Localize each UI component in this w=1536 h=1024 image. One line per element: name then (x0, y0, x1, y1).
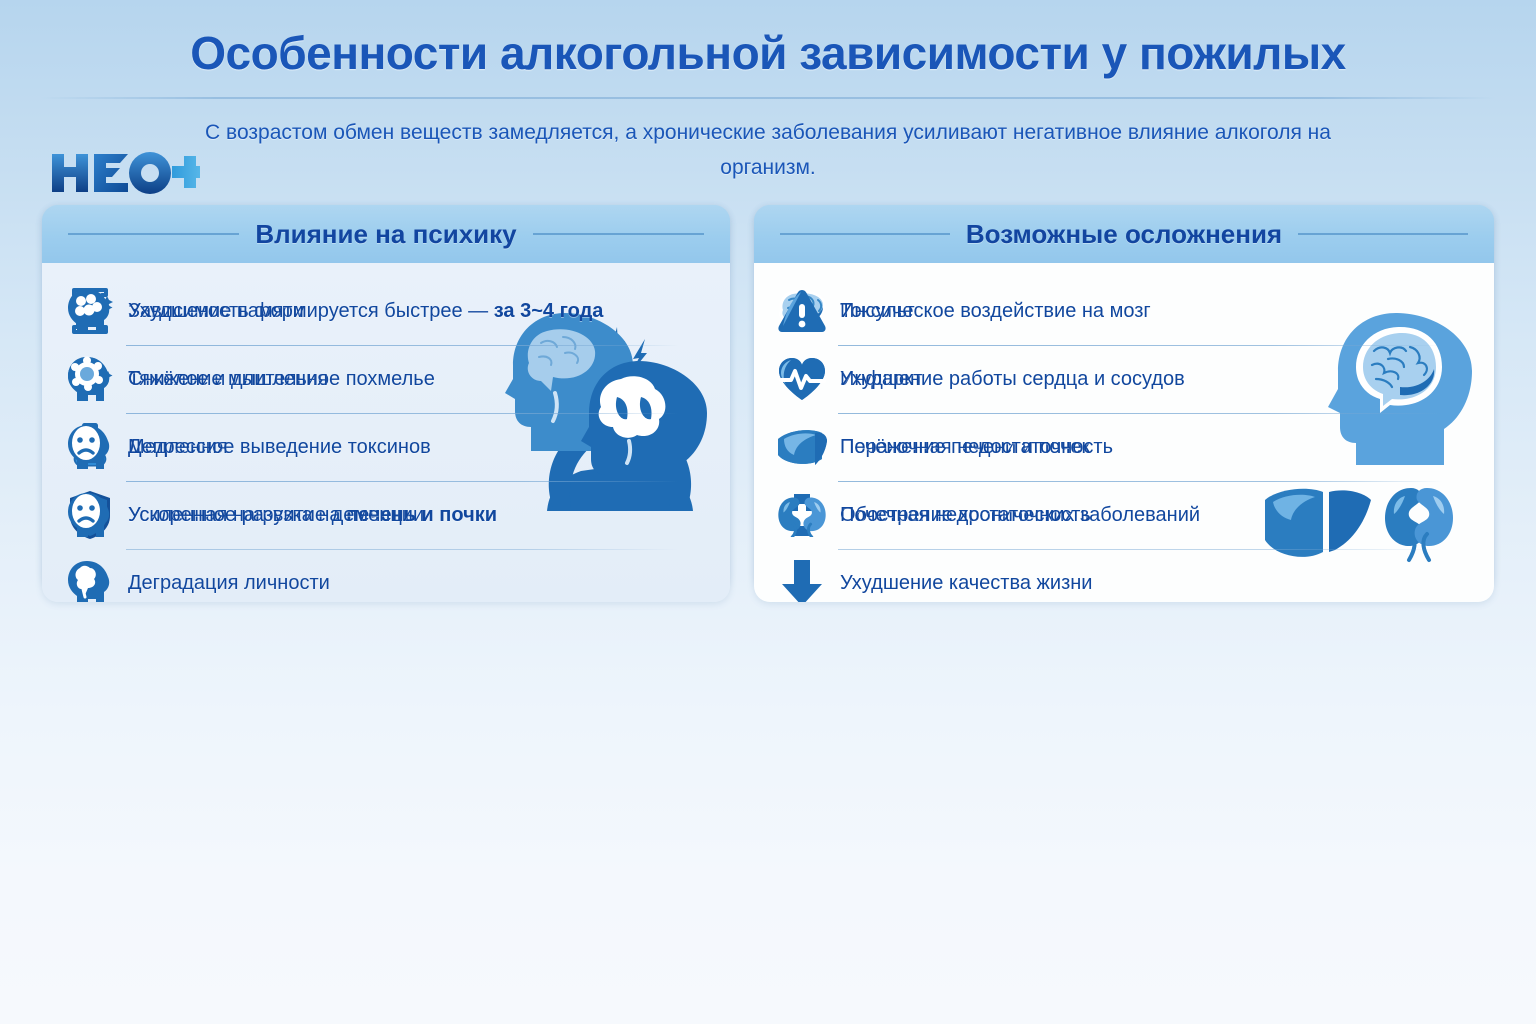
head-degradation-icon (64, 557, 116, 602)
header-rule-left (68, 233, 239, 235)
list-item: Почечная недостаточность (776, 481, 1472, 549)
title-divider (40, 97, 1496, 99)
list-item-label: Почечная недостаточность (840, 504, 1091, 527)
card-body: Ухудшение памяти (42, 263, 730, 602)
neo-plus-logo (50, 150, 200, 196)
header-rule-right (1298, 233, 1468, 235)
feature-list: Инсульт Инфаркт (776, 277, 1472, 602)
list-item: Ускоренное развитие деменции (64, 481, 708, 549)
list-item: Инфаркт (776, 345, 1472, 413)
list-item-label: Печёночная недостаточность (840, 436, 1113, 459)
card-header: Влияние на психику (42, 205, 730, 263)
header-rule-right (533, 233, 704, 235)
kidneys-icon (776, 489, 828, 541)
card-header: Возможные осложнения (754, 205, 1494, 263)
card-vliyanie-na-psihiku: Влияние на психику (42, 205, 730, 602)
list-item-label: Ускоренное развитие деменции (128, 504, 424, 527)
card-title: Влияние на психику (255, 219, 516, 250)
list-item: Ухудшение качества жизни (776, 549, 1472, 602)
card-title: Возможные осложнения (966, 219, 1282, 250)
list-item-label: Деградация личности (128, 572, 330, 595)
list-item-label: Инсульт (840, 300, 915, 323)
list-item-label: Ухудшение памяти (128, 300, 304, 323)
feature-list: Ухудшение памяти (64, 277, 708, 602)
list-item-label: Депрессия (128, 436, 228, 459)
list-item: Снижение мышления (64, 345, 708, 413)
warning-triangle-icon (776, 285, 828, 337)
head-dementia-icon (64, 489, 116, 541)
card-body: Инсульт Инфаркт (754, 263, 1494, 602)
head-memory-icon (64, 285, 116, 337)
page-header: Особенности алкогольной зависимости у по… (0, 0, 1536, 200)
list-item-label: Инфаркт (840, 368, 922, 391)
liver-icon (776, 421, 828, 473)
list-item-label: Ухудшение качества жизни (840, 572, 1092, 595)
cards-grid: Основные особенности (0, 205, 1536, 1020)
head-sad-face-icon (64, 421, 116, 473)
list-item-label: Снижение мышления (128, 368, 328, 391)
card-vozmozhnye-oslozhneniya: Возможные осложнения Инсульт (754, 205, 1494, 602)
header-rule-left (780, 233, 950, 235)
list-item: Депрессия (64, 413, 708, 481)
head-gear-icon (64, 353, 116, 405)
list-item: Ухудшение памяти (64, 277, 708, 345)
heart-pulse-icon (776, 353, 828, 405)
page-title: Особенности алкогольной зависимости у по… (0, 26, 1536, 80)
page-subtitle: С возрастом обмен веществ замедляется, а… (168, 115, 1368, 185)
down-arrow-icon (776, 557, 828, 602)
list-item: Печёночная недостаточность (776, 413, 1472, 481)
list-item: Деградация личности (64, 549, 708, 602)
list-item: Инсульт (776, 277, 1472, 345)
